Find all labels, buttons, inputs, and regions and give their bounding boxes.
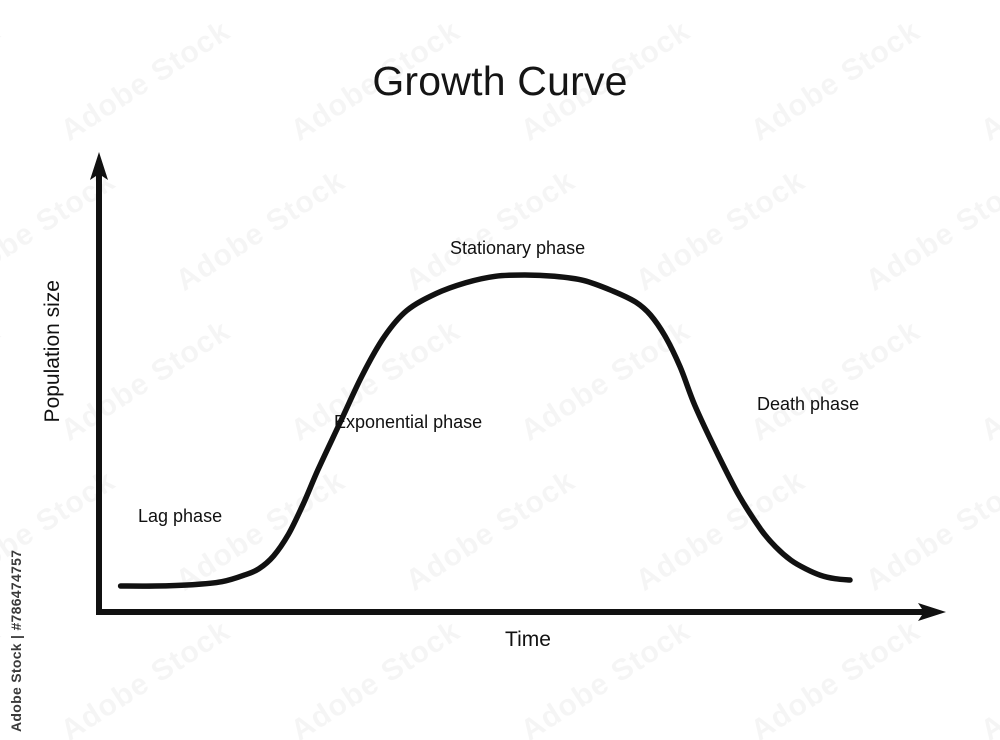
label-lag-phase: Lag phase (138, 506, 222, 527)
page-title: Growth Curve (0, 58, 1000, 105)
x-axis (96, 603, 946, 621)
label-exponential-phase: Exponential phase (334, 412, 482, 433)
stock-credit: Adobe Stock | #786474757 (0, 472, 33, 732)
x-axis-label: Time (0, 628, 1000, 652)
y-axis (90, 152, 108, 612)
growth-curve-line (121, 275, 850, 586)
growth-curve-chart: Growth Curve Time Population size Lag ph… (0, 0, 1000, 740)
stock-credit-text: Adobe Stock | #786474757 (8, 550, 24, 732)
label-stationary-phase: Stationary phase (450, 238, 585, 259)
label-death-phase: Death phase (757, 394, 859, 415)
figure-canvas: Adobe StockAdobe StockAdobe StockAdobe S… (0, 0, 1000, 740)
y-axis-label: Population size (41, 280, 65, 422)
